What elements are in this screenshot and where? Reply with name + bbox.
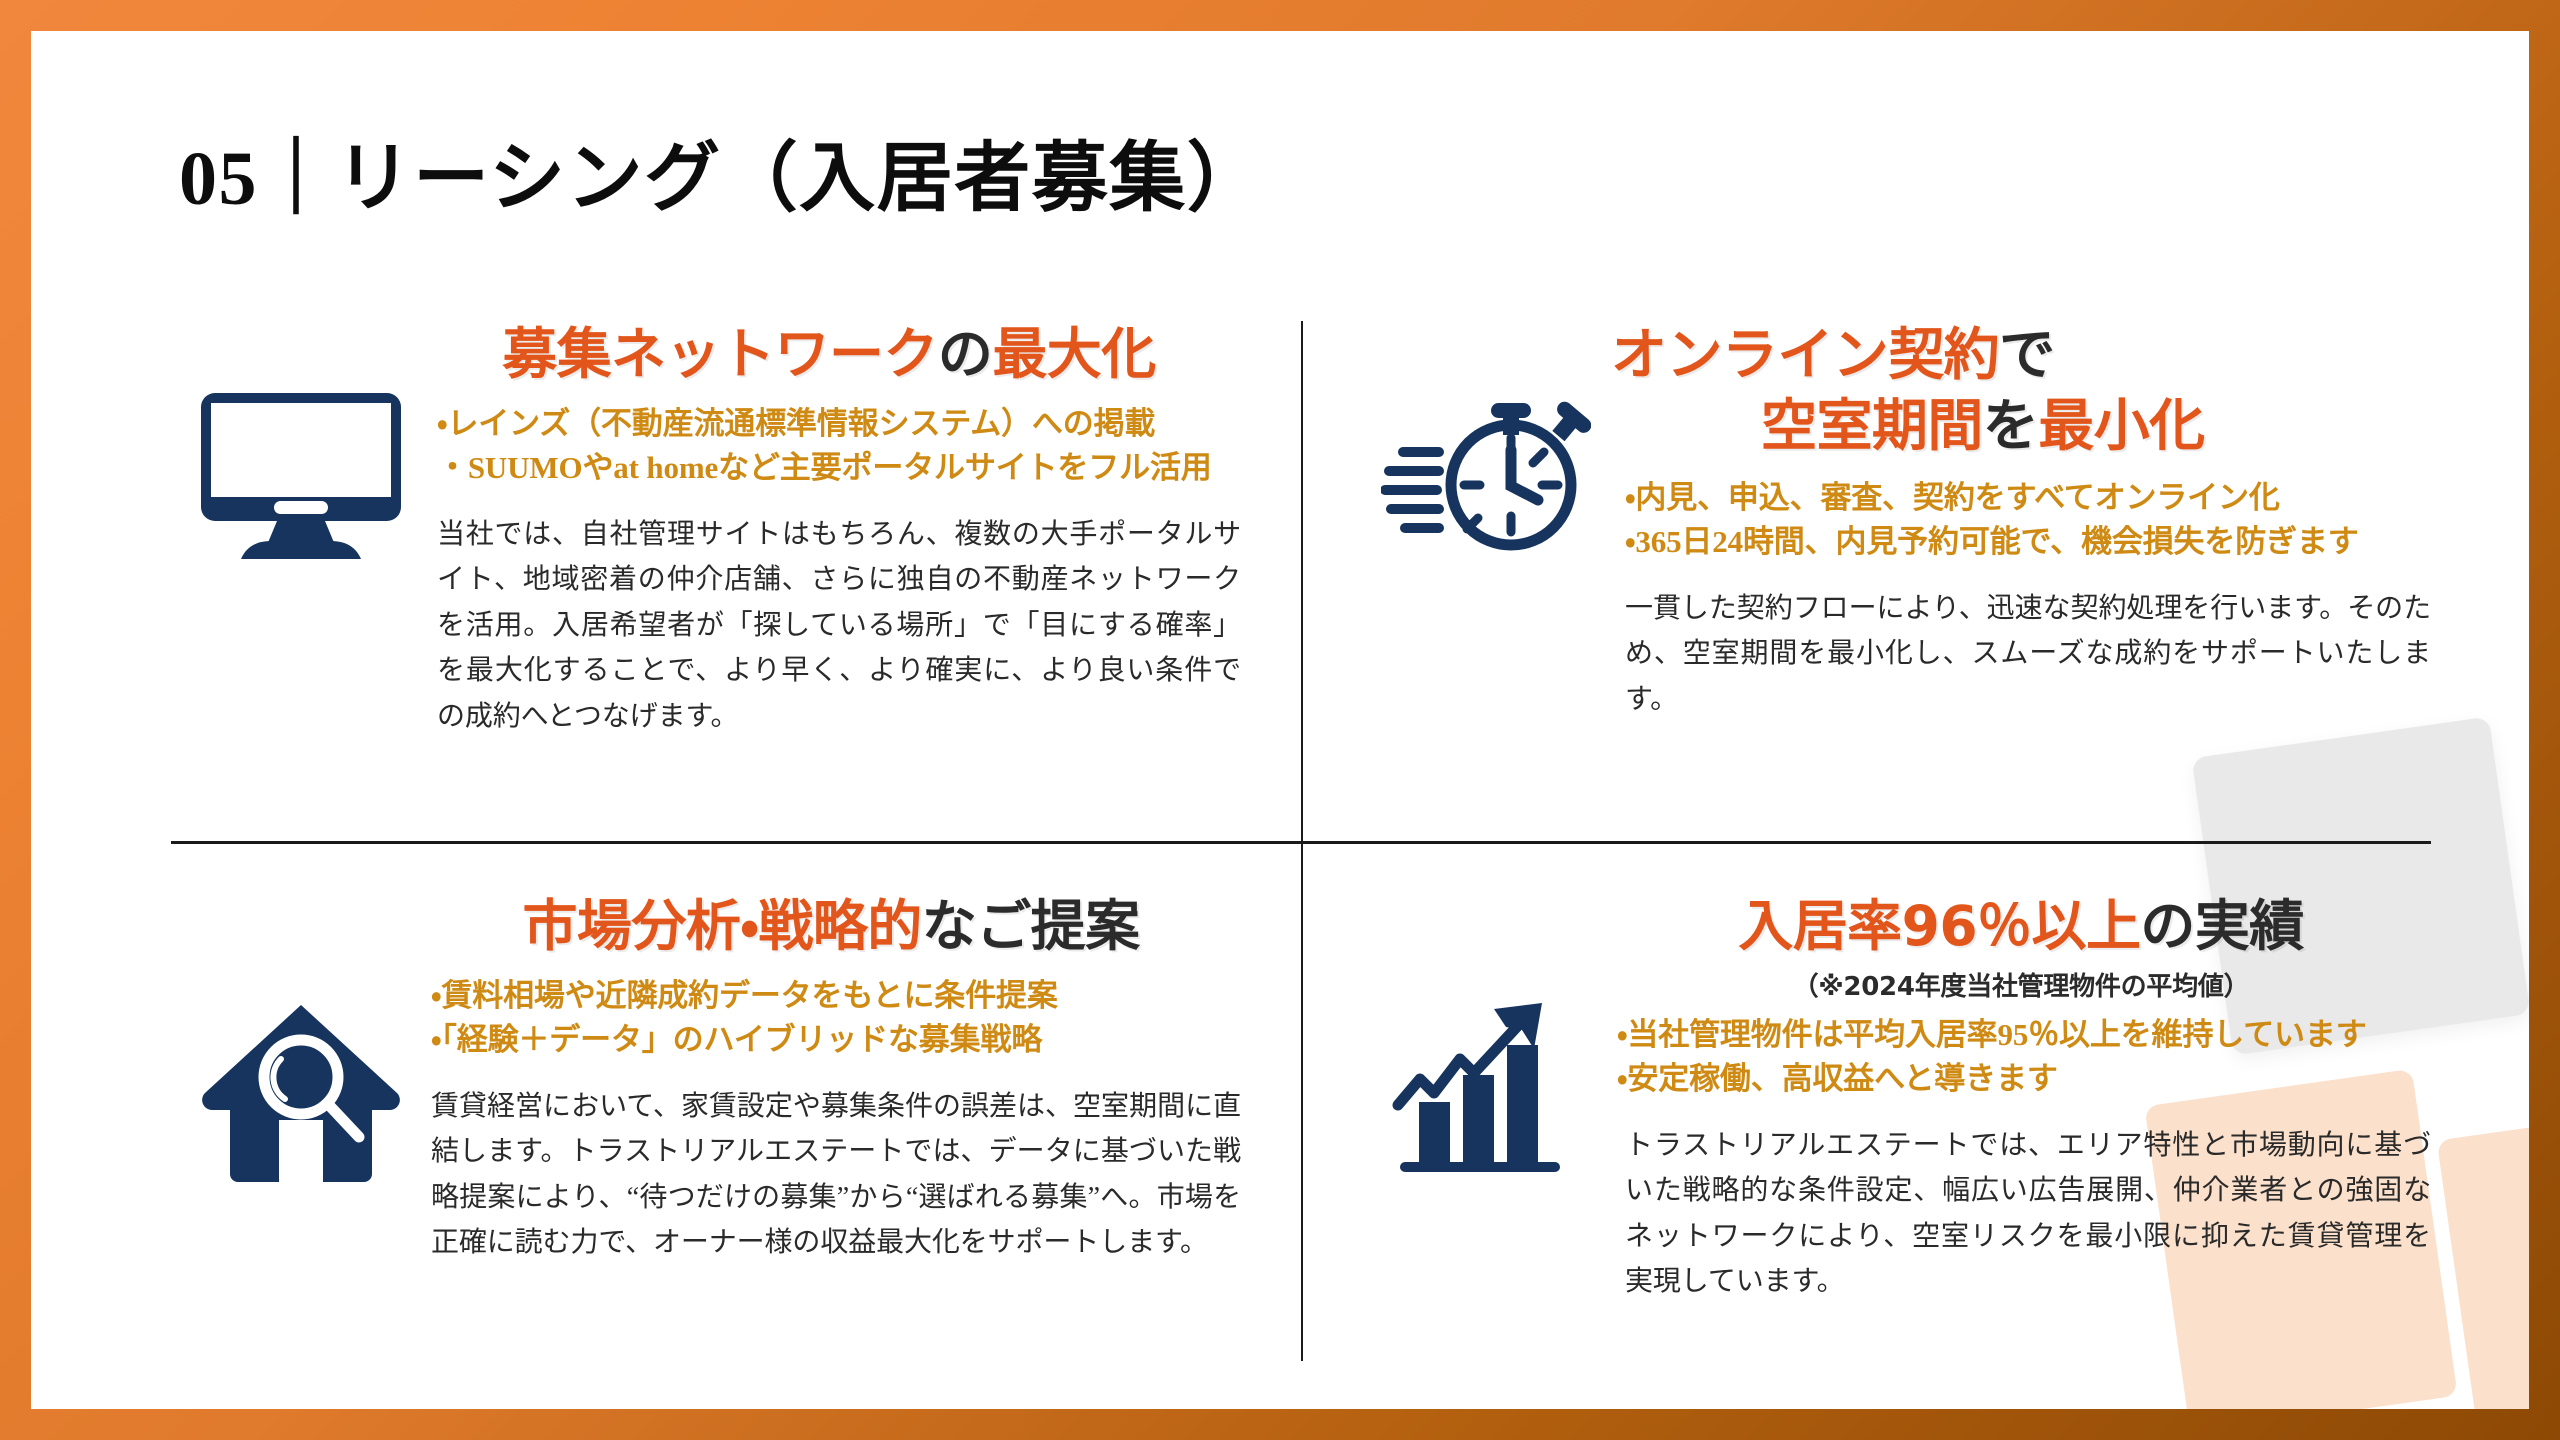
feature-body: 当社では、自社管理サイトはもちろん、複数の大手ポータルサイト、地域密着の仲介店舗… bbox=[437, 512, 1241, 739]
feature-card-online-contract: オンライン契約で 空室期間を最小化 ・内見、申込、審査、契約をすべてオンライン化… bbox=[1301, 321, 2431, 841]
heading-part-4: を bbox=[1983, 394, 2038, 459]
heading-part-3: 最大化 bbox=[992, 322, 1155, 386]
house-search-icon bbox=[171, 893, 431, 1361]
heading-part-2: の bbox=[938, 322, 992, 386]
feature-heading: 募集ネットワークの最大化 bbox=[437, 321, 1241, 388]
heading-part-1: 募集ネットワーク bbox=[502, 322, 938, 386]
feature-content: 入居率96％以上の実績 （※2024年度当社管理物件の平均値） ・当社管理物件は… bbox=[1611, 893, 2431, 1361]
feature-heading: 入居率96％以上の実績 bbox=[1611, 893, 2431, 960]
feature-body: トラストリアルエステートでは、エリア特性と市場動向に基づいた戦略的な条件設定、幅… bbox=[1625, 1123, 2431, 1304]
bullet-item: ・365日24時間、内見予約可能で、機会損失を防ぎます bbox=[1625, 520, 2431, 564]
heading-part-2: なご提案 bbox=[922, 894, 1140, 958]
feature-card-market-analysis: 市場分析・戦略的なご提案 ・賃料相場や近隣成約データをもとに条件提案 ・「経験＋… bbox=[171, 841, 1301, 1361]
slide-canvas: 05｜リーシング（入居者募集） bbox=[31, 31, 2529, 1409]
bullet-item: ・当社管理物件は平均入居率95％以上を維持しています bbox=[1617, 1013, 2431, 1057]
heading-line-2: 空室期間を最小化 bbox=[1611, 392, 2431, 463]
heading-part-3: 空室期間 bbox=[1761, 394, 1983, 459]
heading-part-2: の実績 bbox=[2140, 894, 2303, 958]
feature-card-network: 募集ネットワークの最大化 ・レインズ（不動産流通標準情報システム）への掲載 ・S… bbox=[171, 321, 1301, 841]
feature-body: 賃貸経営において、家賃設定や募集条件の誤差は、空室期間に直結します。トラストリア… bbox=[431, 1084, 1241, 1265]
heading-part-2: で bbox=[1999, 323, 2054, 388]
bullet-item: ・安定稼働、高収益へと導きます bbox=[1617, 1057, 2431, 1101]
bullet-item: ・レインズ（不動産流通標準情報システム）への掲載 bbox=[437, 402, 1241, 446]
feature-subnote: （※2024年度当社管理物件の平均値） bbox=[1611, 966, 2431, 1003]
feature-grid: 募集ネットワークの最大化 ・レインズ（不動産流通標準情報システム）への掲載 ・S… bbox=[171, 321, 2431, 1361]
growth-chart-icon bbox=[1361, 893, 1611, 1361]
feature-bullets: ・賃料相場や近隣成約データをもとに条件提案 ・「経験＋データ」のハイブリッドな募… bbox=[431, 974, 1241, 1062]
feature-content: 募集ネットワークの最大化 ・レインズ（不動産流通標準情報システム）への掲載 ・S… bbox=[431, 321, 1241, 807]
heading-part-1: オンライン契約 bbox=[1611, 323, 1999, 388]
feature-content: 市場分析・戦略的なご提案 ・賃料相場や近隣成約データをもとに条件提案 ・「経験＋… bbox=[431, 893, 1241, 1361]
feature-heading: オンライン契約で 空室期間を最小化 bbox=[1611, 321, 2431, 462]
heading-part-5: 最小化 bbox=[2038, 394, 2204, 459]
feature-bullets: ・当社管理物件は平均入居率95％以上を維持しています ・安定稼働、高収益へと導き… bbox=[1617, 1013, 2431, 1101]
feature-body: 一貫した契約フローにより、迅速な契約処理を行います。そのため、空室期間を最小化し… bbox=[1625, 586, 2431, 722]
bullet-item: ・賃料相場や近隣成約データをもとに条件提案 bbox=[431, 974, 1241, 1018]
heading-part-1: 市場分析・戦略的 bbox=[522, 894, 921, 958]
feature-content: オンライン契約で 空室期間を最小化 ・内見、申込、審査、契約をすべてオンライン化… bbox=[1611, 321, 2431, 807]
bullet-item: ・「経験＋データ」のハイブリッドな募集戦略 bbox=[431, 1018, 1241, 1062]
stopwatch-icon bbox=[1361, 321, 1611, 807]
bullet-item: ・SUUMOやat homeなど主要ポータルサイトをフル活用 bbox=[437, 446, 1241, 490]
page-title: 05｜リーシング（入居者募集） bbox=[179, 141, 1264, 217]
slide-frame: 05｜リーシング（入居者募集） bbox=[0, 0, 2560, 1440]
feature-bullets: ・内見、申込、審査、契約をすべてオンライン化 ・365日24時間、内見予約可能で… bbox=[1625, 476, 2431, 564]
feature-bullets: ・レインズ（不動産流通標準情報システム）への掲載 ・SUUMOやat homeな… bbox=[437, 402, 1241, 490]
feature-heading: 市場分析・戦略的なご提案 bbox=[431, 893, 1241, 960]
monitor-icon bbox=[171, 321, 431, 807]
bullet-item: ・内見、申込、審査、契約をすべてオンライン化 bbox=[1625, 476, 2431, 520]
feature-card-occupancy: 入居率96％以上の実績 （※2024年度当社管理物件の平均値） ・当社管理物件は… bbox=[1301, 841, 2431, 1361]
heading-part-1: 入居率96％以上 bbox=[1738, 894, 2140, 958]
